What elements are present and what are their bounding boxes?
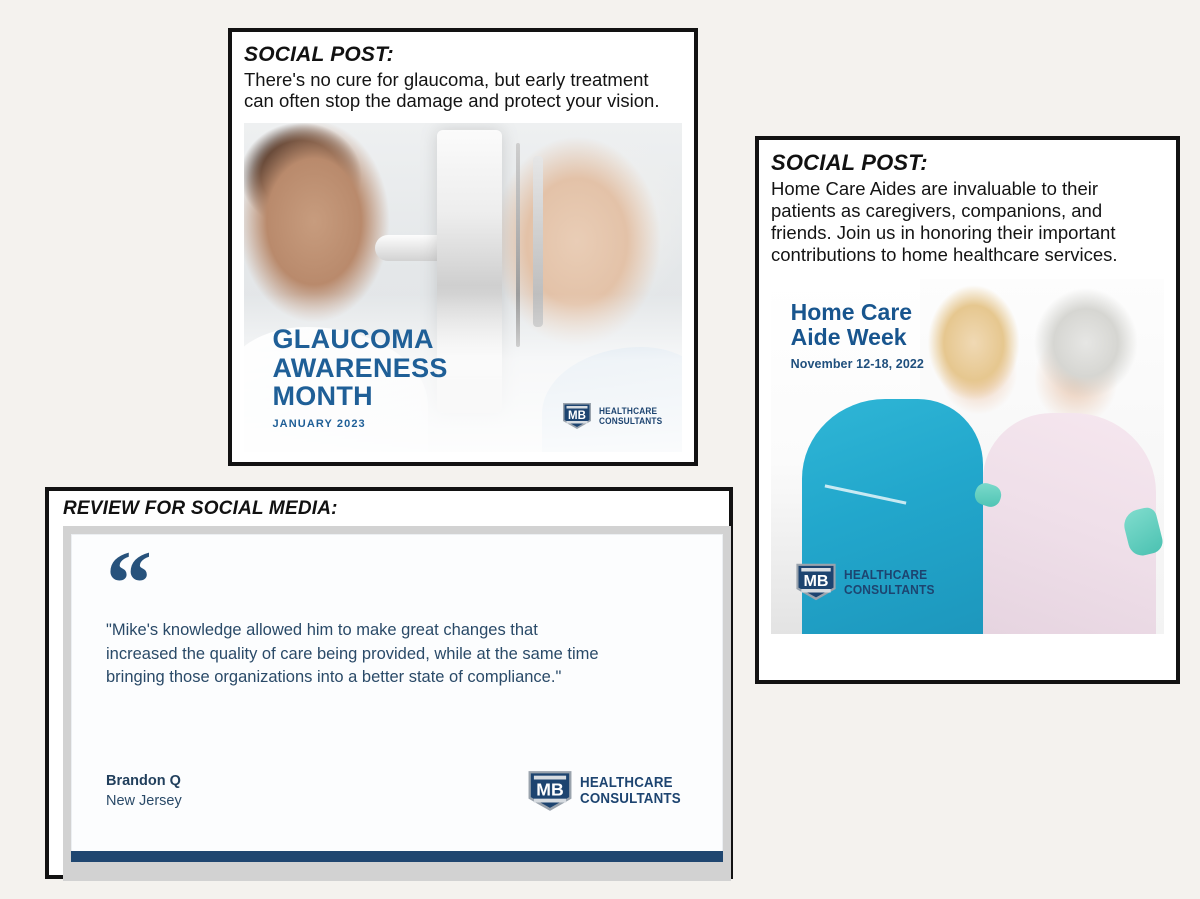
- review-author-location: New Jersey: [106, 792, 182, 812]
- mb-shield-icon: MB: [562, 402, 592, 430]
- mb-healthcare-logo: MB HEALTHCARE CONSULTANTS: [795, 562, 943, 602]
- homecare-creative-image: Home Care Aide Week November 12-18, 2022…: [771, 279, 1164, 634]
- mb-logo-line2: CONSULTANTS: [599, 417, 662, 426]
- slit-lamp-scope-icon: [375, 235, 449, 261]
- mb-logo-line1: HEALTHCARE: [599, 407, 662, 416]
- svg-text:MB: MB: [568, 410, 586, 422]
- mb-logo-wordmark: HEALTHCARE CONSULTANTS: [599, 407, 668, 426]
- svg-text:MB: MB: [537, 780, 564, 800]
- homecare-subhead: November 12-18, 2022: [791, 357, 924, 371]
- mb-logo-line2: CONSULTANTS: [580, 792, 681, 807]
- mb-logo-wordmark: HEALTHCARE CONSULTANTS: [844, 568, 943, 596]
- glaucoma-headline-block: GLAUCOMA AWARENESS MONTH JANUARY 2023: [272, 325, 447, 431]
- mb-logo-line1: HEALTHCARE: [580, 776, 681, 791]
- post-label: SOCIAL POST:: [244, 42, 682, 68]
- glaucoma-subhead: JANUARY 2023: [272, 418, 447, 430]
- mb-healthcare-logo: MB HEALTHCARE CONSULTANTS: [562, 402, 668, 430]
- homecare-headline: Home Care Aide Week: [791, 300, 924, 351]
- review-quote-text: "Mike's knowledge allowed him to make gr…: [106, 619, 606, 689]
- mb-shield-icon: MB: [527, 769, 573, 813]
- review-accent-bar: [71, 851, 723, 862]
- review-label: REVIEW FOR SOCIAL MEDIA:: [63, 497, 719, 520]
- mb-healthcare-logo: MB HEALTHCARE CONSULTANTS: [527, 769, 690, 813]
- quote-mark-icon: “: [106, 557, 688, 609]
- mb-logo-line2: CONSULTANTS: [844, 583, 935, 596]
- glaucoma-creative-image: GLAUCOMA AWARENESS MONTH JANUARY 2023 MB…: [244, 123, 682, 452]
- review-sheet: “ "Mike's knowledge allowed him to make …: [71, 534, 723, 852]
- scrubs-seam-line: [825, 484, 907, 504]
- svg-text:MB: MB: [803, 572, 828, 590]
- glaucoma-headline: GLAUCOMA AWARENESS MONTH: [272, 325, 447, 412]
- review-card: REVIEW FOR SOCIAL MEDIA: “ "Mike's knowl…: [45, 487, 733, 879]
- review-attribution: Brandon Q New Jersey: [106, 772, 182, 811]
- mb-logo-wordmark: HEALTHCARE CONSULTANTS: [580, 776, 690, 807]
- social-post-card-glaucoma: SOCIAL POST: There's no cure for glaucom…: [228, 28, 698, 466]
- review-frame: “ "Mike's knowledge allowed him to make …: [63, 526, 731, 881]
- homecare-headline-block: Home Care Aide Week November 12-18, 2022: [791, 300, 924, 372]
- mb-shield-icon: MB: [795, 562, 837, 602]
- post-body: There's no cure for glaucoma, but early …: [244, 69, 682, 113]
- post-body: Home Care Aides are invaluable to their …: [771, 178, 1164, 267]
- review-author-name: Brandon Q: [106, 772, 182, 792]
- mb-logo-line1: HEALTHCARE: [844, 568, 935, 581]
- social-post-card-homecare: SOCIAL POST: Home Care Aides are invalua…: [755, 136, 1180, 684]
- post-label: SOCIAL POST:: [771, 150, 1164, 177]
